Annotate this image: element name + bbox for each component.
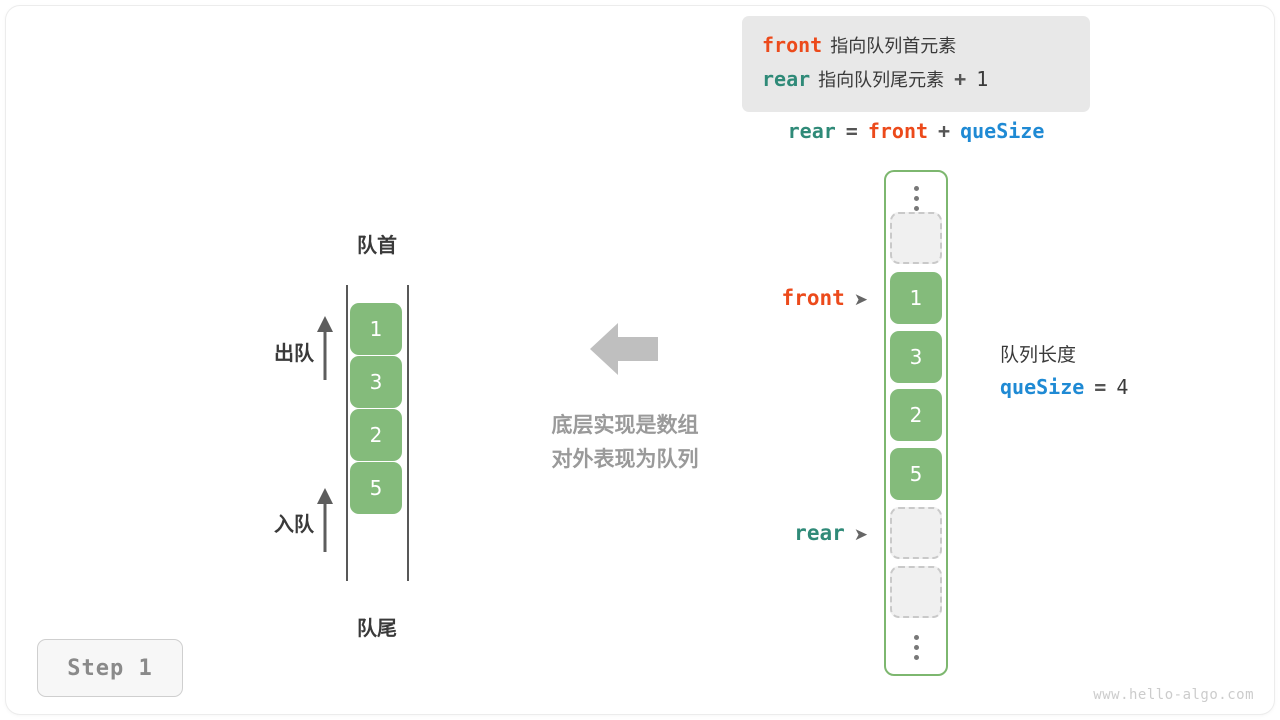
rear-pointer-label: rear➤: [700, 521, 868, 545]
queue-cell-2[interactable]: 2: [350, 409, 402, 461]
rear-pointer-text: rear: [794, 521, 845, 545]
pointer-definition-box: front指向队列首元素 rear指向队列尾元素+1: [742, 16, 1090, 112]
array-top-ellipsis-icon: [913, 186, 919, 211]
dequeue-label: 出队: [244, 337, 314, 366]
front-pointer-label: front➤: [700, 286, 868, 310]
transform-arrow-icon: [590, 320, 658, 383]
queue-head-label: 队首: [317, 229, 437, 258]
step-badge: Step 1: [37, 639, 183, 697]
front-keyword: front: [762, 33, 822, 57]
enqueue-arrow-icon: [316, 488, 334, 557]
implementation-note: 底层实现是数组 对外表现为队列: [500, 408, 750, 476]
quesize-equals: =: [1094, 375, 1106, 399]
formula-plus: +: [938, 119, 950, 143]
array-cell-5[interactable]: 5: [890, 448, 942, 500]
queue-cell-value: 5: [370, 476, 383, 500]
array-cell-empty-rear[interactable]: [890, 507, 942, 559]
queue-cell-3[interactable]: 3: [350, 356, 402, 408]
array-cell-empty-bottom[interactable]: [890, 566, 942, 618]
rear-definition-one: 1: [976, 67, 988, 91]
queue-cell-value: 1: [370, 317, 383, 341]
implementation-note-line1: 底层实现是数组: [500, 408, 750, 442]
front-pointer-arrow-icon: ➤: [854, 290, 868, 310]
rear-formula: rear=front+queSize: [742, 118, 1090, 144]
implementation-note-line2: 对外表现为队列: [500, 442, 750, 476]
queue-rail-right: [407, 285, 409, 581]
formula-front: front: [868, 119, 928, 143]
quesize-note-title: 队列长度: [1000, 340, 1128, 370]
formula-equals: =: [846, 119, 858, 143]
array-cell-empty-top[interactable]: [890, 212, 942, 264]
quesize-note: 队列长度 queSize=4: [1000, 340, 1128, 405]
queue-cell-1[interactable]: 1: [350, 303, 402, 355]
figure-canvas: front指向队列首元素 rear指向队列尾元素+1 rear=front+qu…: [0, 0, 1280, 720]
rear-definition-plus: +: [954, 67, 966, 91]
watermark: www.hello-algo.com: [1093, 687, 1254, 703]
formula-rear: rear: [788, 119, 836, 143]
quesize-value: 4: [1116, 375, 1128, 399]
array-cell-value: 2: [910, 403, 923, 427]
front-definition-text: 指向队列首元素: [830, 36, 956, 57]
array-cell-1[interactable]: 1: [890, 272, 942, 324]
queue-cell-value: 3: [370, 370, 383, 394]
rear-definition-line: rear指向队列尾元素+1: [762, 62, 1090, 96]
enqueue-label: 入队: [244, 508, 314, 537]
dequeue-arrow-icon: [316, 316, 334, 385]
array-bottom-ellipsis-icon: [913, 635, 919, 660]
array-cell-3[interactable]: 3: [890, 331, 942, 383]
quesize-note-equation: queSize=4: [1000, 370, 1128, 405]
rear-pointer-arrow-icon: ➤: [854, 525, 868, 545]
rear-keyword: rear: [762, 67, 810, 91]
queue-cell-value: 2: [370, 423, 383, 447]
front-definition-line: front指向队列首元素: [762, 28, 1090, 62]
array-cell-value: 3: [910, 345, 923, 369]
rear-definition-text: 指向队列尾元素: [818, 70, 944, 91]
array-cell-2[interactable]: 2: [890, 389, 942, 441]
array-cell-value: 1: [910, 286, 923, 310]
queue-tail-label: 队尾: [317, 612, 437, 641]
quesize-name: queSize: [1000, 375, 1084, 399]
front-pointer-text: front: [782, 286, 845, 310]
queue-rail-left: [346, 285, 348, 581]
queue-cell-5[interactable]: 5: [350, 462, 402, 514]
array-container: 1 3 2 5: [884, 170, 948, 676]
formula-quesize: queSize: [960, 119, 1044, 143]
array-cell-value: 5: [910, 462, 923, 486]
